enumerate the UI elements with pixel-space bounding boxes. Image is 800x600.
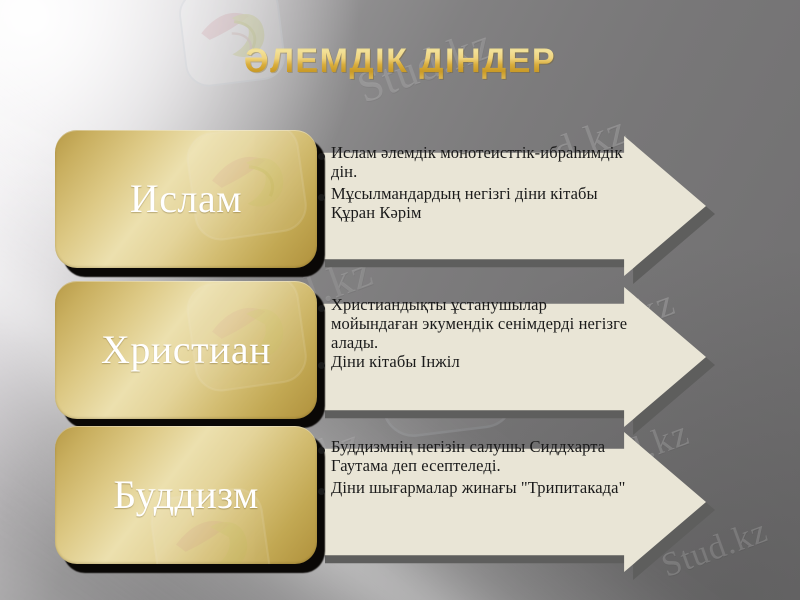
bullet-point: [318, 447, 325, 454]
category-box[interactable]: Христиан: [55, 281, 317, 419]
body-text-line-2: Діни кітабы Інжіл: [331, 353, 631, 372]
presentation-slide: Stud.kz - Stud.kz Stud.kz Stud.kz Stud.k…: [0, 0, 800, 600]
bullet-point: [318, 305, 325, 312]
category-box[interactable]: Ислам: [55, 130, 317, 268]
category-label: Христиан: [101, 330, 271, 370]
category-label: Буддизм: [113, 475, 259, 515]
body-text-line-1: Буддизмнің негізін салушы Сиддхарта Гаут…: [331, 438, 631, 476]
page-title: ӘЛЕМДІК ДІНДЕР: [0, 42, 800, 81]
category-label: Ислам: [130, 179, 242, 219]
bullet-point: [318, 194, 325, 201]
category-box-face[interactable]: Ислам: [55, 130, 317, 268]
bullet-point: [318, 362, 325, 369]
body-text-line-1: Христиандықты ұстанушылар мойындаған эку…: [331, 296, 631, 353]
body-text-line-1: Ислам әлемдік монотеисттік-ибраһимдік ді…: [331, 144, 631, 182]
body-text-line-2: Діни шығармалар жинағы "Трипитакада": [331, 479, 631, 498]
bullet-point: [318, 488, 325, 495]
category-box[interactable]: Буддизм: [55, 426, 317, 564]
category-box-face[interactable]: Христиан: [55, 281, 317, 419]
bullet-point: [318, 153, 325, 160]
category-box-face[interactable]: Буддизм: [55, 426, 317, 564]
body-text-line-2: Мұсылмандардың негізгі діни кітабы Құран…: [331, 185, 631, 223]
